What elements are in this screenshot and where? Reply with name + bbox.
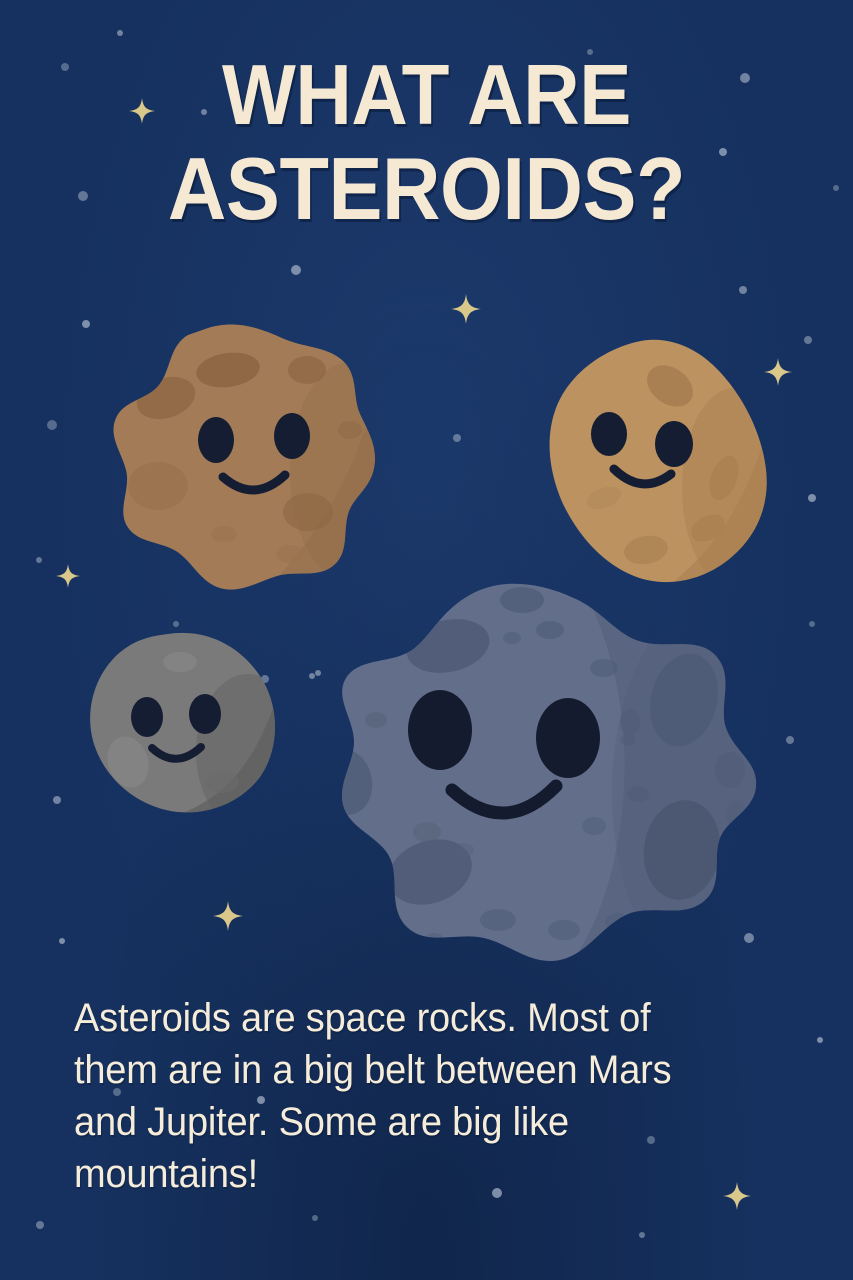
title-line-1: WHAT ARE [34, 56, 819, 137]
poster-canvas: WHAT ARE ASTEROIDS? Asteroids are space … [0, 0, 853, 1280]
page-title: WHAT ARE ASTEROIDS? [0, 56, 853, 230]
body-paragraph: Asteroids are space rocks. Most of them … [74, 992, 701, 1200]
title-line-2: ASTEROIDS? [34, 147, 819, 231]
poster-text: WHAT ARE ASTEROIDS? Asteroids are space … [0, 0, 853, 1280]
body-copy: Asteroids are space rocks. Most of them … [74, 992, 734, 1200]
